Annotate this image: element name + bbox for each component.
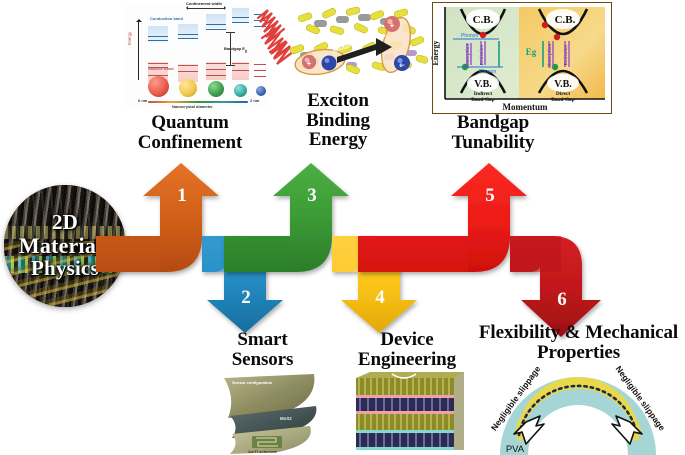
bg-left-emission-label: Emission — [479, 45, 484, 66]
thumbnail-bandgap-tunability[interactable]: C.B. V.B. Indirect Band Gap Phonon Phono… — [432, 2, 612, 114]
caption-step-2-line-2: Sensors — [205, 350, 320, 370]
qc-sphere-3 — [208, 81, 224, 97]
arrow-number-3: 3 — [307, 185, 317, 206]
arrow-number-4: 4 — [375, 287, 385, 308]
bg-right-electron-2 — [554, 34, 560, 40]
qc-energy-axis — [138, 20, 139, 80]
caption-step-4: Device Engineering — [348, 330, 466, 369]
thumbnail-smart-sensors[interactable]: Sensor configuration MoS2 Au/Ti substrat… — [206, 372, 334, 455]
qc-size-left-label: 6 nm — [138, 98, 147, 103]
bg-phonon-label-top: Phonon — [461, 33, 478, 39]
ss-label-mid: MoS2 — [280, 416, 292, 421]
thumbnail-quantum-confinement[interactable]: Energy Confinement width Conduction band… — [126, 2, 266, 110]
caption-step-2: Smart Sensors — [205, 330, 320, 369]
arrow-number-5: 5 — [485, 185, 495, 206]
bg-left-cb-label: C.B. — [473, 14, 494, 26]
qc-size-scale-bar — [148, 101, 248, 103]
bg-left-vb-label: V.B. — [474, 79, 492, 90]
arrow-number-2: 2 — [241, 287, 251, 308]
ss-label-bottom: Au/Ti substrate — [248, 449, 278, 454]
arrow-step-1[interactable] — [96, 163, 219, 272]
caption-step-4-line-1: Device — [348, 330, 466, 350]
diagram-canvas: 2D Materials Physics — [0, 0, 685, 455]
caption-step-5: Bandgap Tunability — [432, 113, 554, 152]
caption-step-4-line-2: Engineering — [348, 350, 466, 370]
caption-step-1-line-1: Quantum — [130, 113, 250, 133]
arrow-step-3[interactable] — [224, 163, 349, 272]
caption-step-1: Quantum Confinement — [130, 113, 250, 152]
caption-step-6: Flexibility & Mechanical Properties — [472, 323, 685, 362]
caption-step-3-line-2: Binding — [288, 111, 388, 131]
de-stack — [356, 372, 464, 450]
qc-sphere-1 — [148, 76, 169, 97]
qc-size-axis-label: Nanocrystal diameter — [172, 104, 213, 109]
fx-pva-label: PVA — [506, 444, 525, 455]
caption-step-5-line-2: Tunability — [432, 133, 554, 153]
bg-eg-label: Eg — [526, 47, 537, 57]
exciton-hole-symbol-right: + — [390, 21, 395, 30]
bg-right-cb-label: C.B. — [555, 14, 576, 26]
bg-right-emission-label: Emission — [563, 45, 568, 66]
caption-step-3: Exciton Binding Energy — [288, 91, 388, 150]
qc-sphere-4 — [234, 84, 247, 97]
bg-right-caption-2: Band Gap — [551, 97, 575, 103]
bg-phonon-label-bottom: Phonon — [479, 69, 496, 75]
ss-label-top: Sensor configuration — [232, 380, 273, 385]
bg-right-electron-1 — [542, 22, 548, 28]
qc-sphere-5 — [256, 86, 266, 96]
qc-confinement-width-label: Confinement width — [186, 2, 222, 6]
bg-momentum-axis-label: Momentum — [503, 102, 548, 112]
bg-right-absorption-label: Absorption — [547, 44, 552, 69]
exciton-electron-symbol: e- — [399, 63, 404, 69]
qc-valence-band-label: Valence band — [148, 66, 174, 71]
qc-sphere-2 — [179, 79, 197, 97]
arrow-number-1: 1 — [177, 185, 187, 206]
thumbnail-device-engineering[interactable] — [346, 370, 464, 455]
caption-step-3-line-3: Energy — [288, 130, 388, 150]
arrow-number-6: 6 — [557, 289, 567, 310]
thumbnail-exciton-binding-energy[interactable]: + + e- Exciton binding energy Energy — [280, 0, 440, 92]
caption-step-3-line-1: Exciton — [288, 91, 388, 111]
arrow-step-5[interactable] — [358, 163, 527, 272]
caption-step-5-line-1: Bandgap — [432, 113, 554, 133]
qc-size-right-label: 2 nm — [250, 98, 259, 103]
caption-step-1-line-2: Confinement — [130, 133, 250, 153]
qc-energy-axis-label: Energy — [127, 32, 132, 45]
bg-left-caption-2: Band Gap — [471, 97, 495, 103]
bg-left-electron — [480, 32, 486, 38]
bg-left-absorption-label: Absorption — [465, 44, 470, 69]
bg-right-vb-label: V.B. — [554, 79, 572, 90]
thumbnail-flexibility-mechanical[interactable]: Negligible slippage Negligible slippage … — [482, 360, 674, 455]
qc-confinement-width-marker — [188, 8, 224, 9]
exciton-hole-symbol-left: + — [307, 59, 312, 68]
bg-energy-axis-label: Energy — [432, 41, 440, 66]
caption-step-2-line-1: Smart — [205, 330, 320, 350]
caption-step-6-line-1: Flexibility & Mechanical — [472, 323, 685, 343]
qc-bandgap-label: Bandgap Eg — [224, 46, 247, 53]
